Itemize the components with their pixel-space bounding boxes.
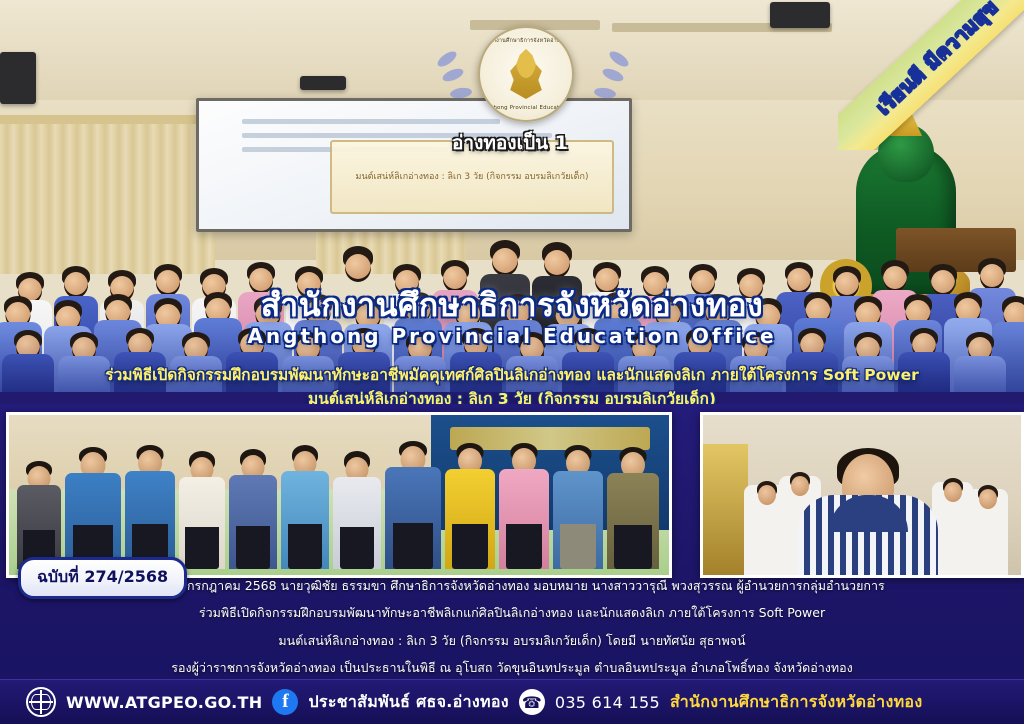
footer-office-name: สำนักงานศึกษาธิการจังหวัดอ่างทอง	[670, 690, 923, 715]
golden-altar	[703, 444, 748, 575]
speaker-icon	[0, 52, 36, 104]
person	[125, 445, 175, 569]
description-line-3: มนต์เสน่ห์ลิเกอ่างทอง : ลิเก 3 วัย (กิจก…	[0, 627, 1024, 654]
person	[17, 461, 61, 569]
photo-portrait-attendees	[700, 412, 1024, 578]
person	[445, 443, 495, 569]
person	[607, 447, 659, 569]
person	[553, 445, 603, 569]
footer-website[interactable]: WWW.ATGPEO.GO.TH	[66, 693, 262, 712]
speaker-icon	[300, 76, 346, 90]
issue-number-badge: ฉบับที่ 274/2568	[18, 557, 187, 599]
thai-education-emblem-icon	[504, 49, 548, 99]
subheadline-line-1: ร่วมพิธีเปิดกิจกรรมฝึกอบรมพัฒนาทักษะอาชี…	[0, 366, 1024, 385]
photo-officials-group	[6, 412, 672, 578]
bottom-section: ฉบับที่ 274/2568 วันที่ 18 กรกฎาคม 2568 …	[0, 404, 1024, 680]
phone-icon: ☎	[519, 689, 545, 715]
person	[229, 449, 277, 569]
description-line-4: รองผู้ว่าราชการจังหวัดอ่างทอง เป็นประธาน…	[0, 654, 1024, 681]
globe-icon	[26, 687, 56, 717]
organization-logo: สำนักงานศึกษาธิการจังหวัดอ่างทอง Angthon…	[478, 26, 574, 122]
person	[499, 443, 549, 569]
facebook-icon[interactable]: f	[272, 689, 298, 715]
news-poster: มนต์เสน่ห์ลิเกอ่างทอง : ลิเก 3 วัย (กิจก…	[0, 0, 1024, 724]
footer-phone: 035 614 155	[555, 693, 660, 712]
logo-ring-top-text: สำนักงานศึกษาธิการจังหวัดอ่างทอง	[480, 37, 572, 45]
footer-facebook-page[interactable]: ประชาสัมพันธ์ ศธจ.อ่างทอง	[308, 690, 508, 715]
description-line-2: ร่วมพิธีเปิดกิจกรรมฝึกอบรมพัฒนาทักษะอาชี…	[0, 599, 1024, 626]
slogan-angthong-number-one: อ่างทองเป็น 1	[452, 128, 568, 158]
person	[385, 441, 441, 569]
speaker-icon	[770, 2, 830, 28]
footer-bar: WWW.ATGPEO.GO.TH f ประชาสัมพันธ์ ศธจ.อ่า…	[0, 679, 1024, 724]
logo-ring-bottom-text: Angthong Provincial Education Office	[480, 105, 572, 111]
person	[65, 447, 121, 569]
students-crowd	[0, 157, 1024, 392]
person	[333, 451, 381, 569]
person	[967, 489, 1008, 575]
person	[179, 451, 225, 569]
person-foreground-portrait	[798, 450, 938, 575]
person	[281, 445, 329, 569]
